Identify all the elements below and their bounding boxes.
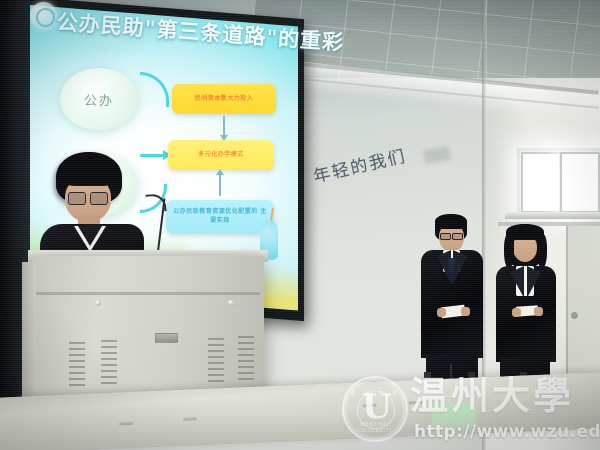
table-marking-4 xyxy=(409,401,423,405)
speaker-glasses-icon xyxy=(68,192,108,203)
slide-flow-box-2: 多元化办学模式 xyxy=(168,140,274,170)
slide-connector-1 xyxy=(223,116,225,136)
podium-vent-4 xyxy=(238,336,254,380)
table-marking-1 xyxy=(119,422,133,426)
window-pane-right xyxy=(560,152,600,213)
podium-vent-3 xyxy=(208,338,224,382)
door-knob[interactable] xyxy=(571,312,578,319)
man-hand-right xyxy=(461,307,470,316)
globe-logo-icon xyxy=(30,2,57,29)
man-glasses-icon xyxy=(440,233,463,238)
podium-panel-seam xyxy=(36,292,260,295)
window-sill xyxy=(505,212,600,219)
podium-vent-1 xyxy=(69,342,85,386)
table-green-reflection xyxy=(431,403,476,435)
table-marking-3 xyxy=(363,404,377,408)
photograph-scene: 年轻的我们 公办民助"第三条道路"的重彩 公办 民助 民间资本数大力投入 多元化… xyxy=(0,0,600,450)
man-fringe xyxy=(435,214,467,229)
woman-hair-right xyxy=(537,234,547,268)
woman-hand-right xyxy=(534,307,543,316)
podium-left-side xyxy=(22,262,36,414)
table-marking-2 xyxy=(183,417,197,421)
man-hand-left xyxy=(437,308,446,317)
podium-vent-2 xyxy=(101,340,117,384)
slide-flow-box-1: 民间资本数大力投入 xyxy=(172,84,276,114)
slide-circle-public-label: 公办 xyxy=(84,90,114,109)
window-pane-left xyxy=(521,152,561,213)
woman-hair-left xyxy=(504,234,514,268)
slide-connector-2 xyxy=(219,174,221,196)
speaker-fringe xyxy=(58,156,120,186)
woman-hand-left xyxy=(512,308,521,317)
podium-label-slot xyxy=(155,333,178,343)
podium-screw-right xyxy=(228,300,234,306)
podium-screw-left xyxy=(95,300,101,306)
slide-circle-public: 公办 xyxy=(60,68,138,130)
